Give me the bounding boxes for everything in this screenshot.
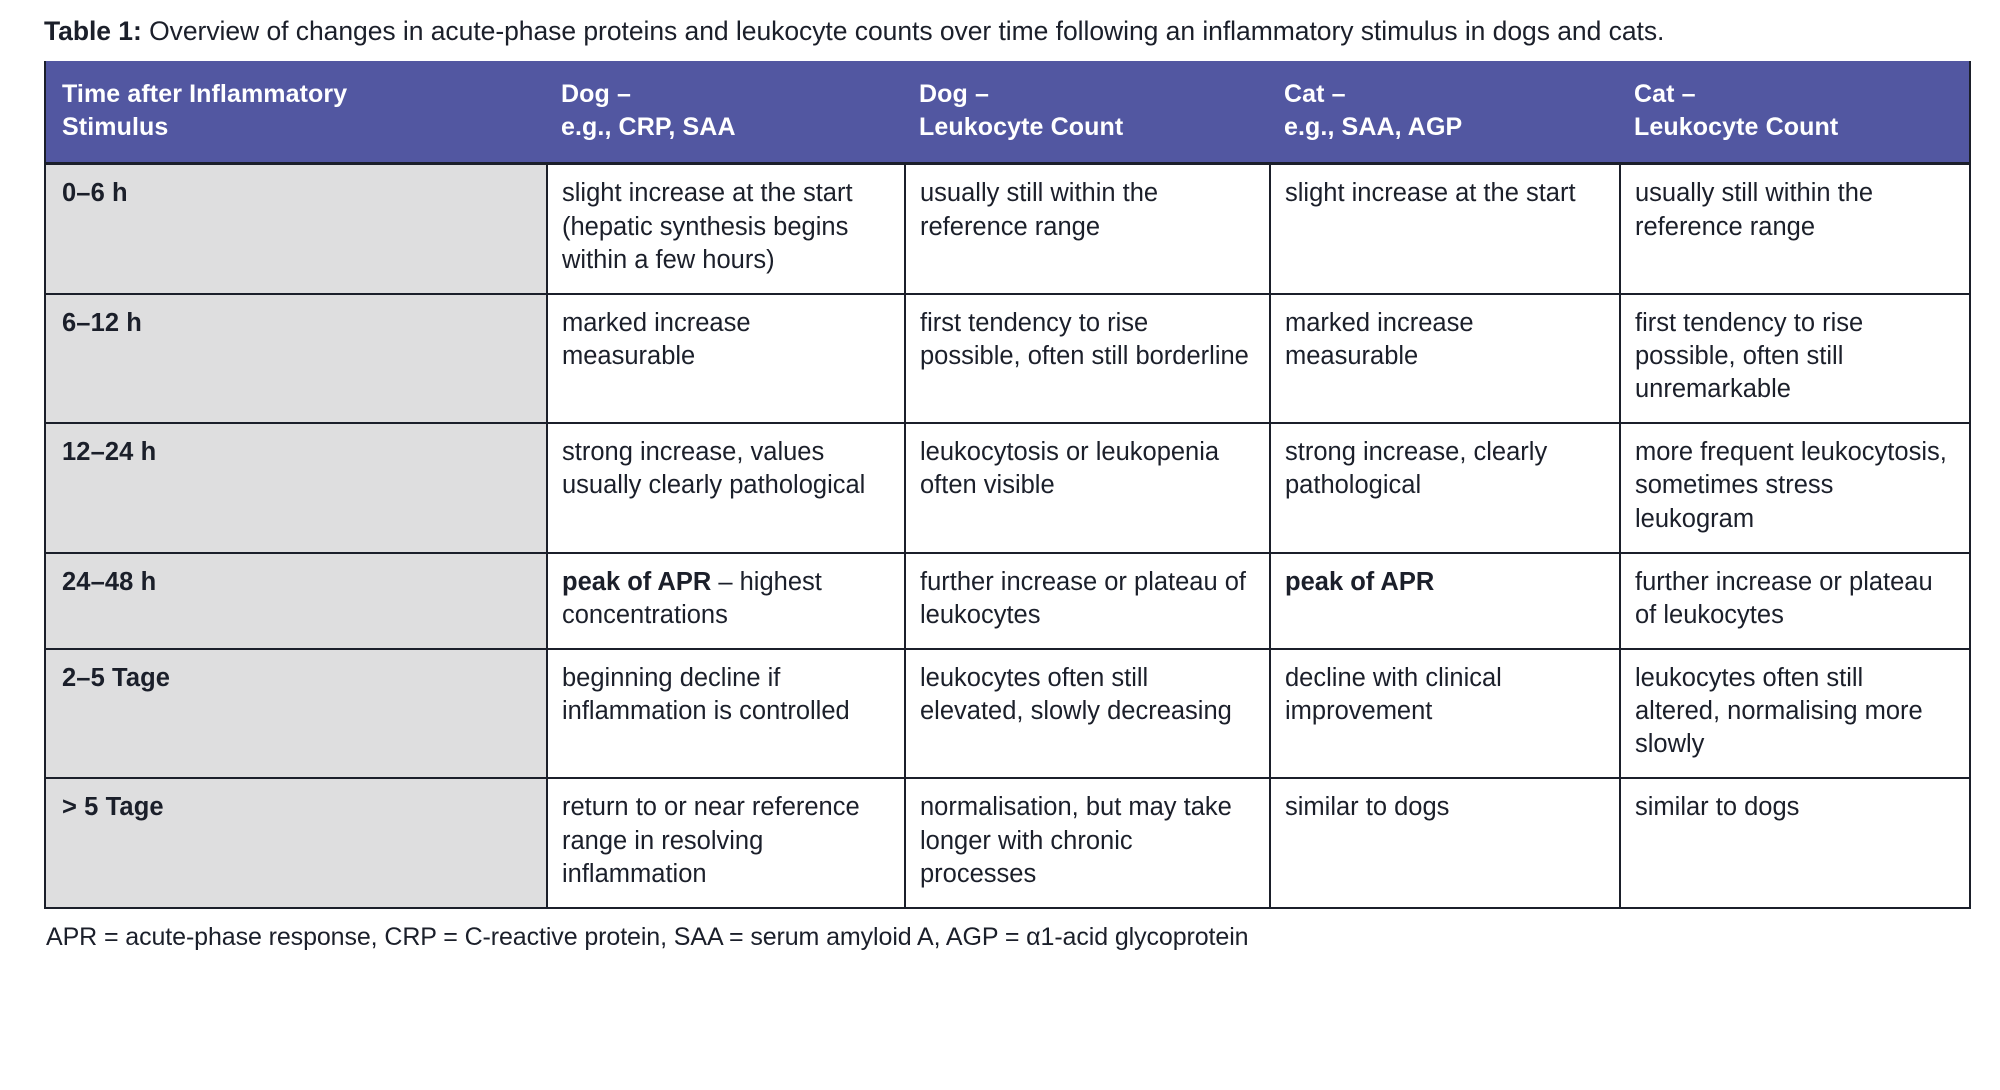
table-row: 6–12 h marked increase measurable first …	[45, 294, 1970, 423]
header-line-1: Cat –	[1284, 80, 1346, 108]
header-line-2: Stimulus	[62, 113, 168, 141]
table-figure-page: Table 1: Overview of changes in acute-ph…	[0, 0, 2000, 1090]
column-header-time: Time after Inflammatory Stimulus	[45, 61, 547, 164]
caption-text: Overview of changes in acute-phase prote…	[142, 16, 1665, 46]
header-line-1: Dog –	[561, 80, 631, 108]
acute-phase-protein-table: Time after Inflammatory Stimulus Dog – e…	[44, 61, 1971, 908]
cell-dog-leukocyte: further increase or plateau of leukocyte…	[905, 553, 1270, 649]
cell-cat-leukocyte: more frequent leukocytosis, sometimes st…	[1620, 423, 1970, 552]
header-line-2: e.g., CRP, SAA	[561, 113, 736, 141]
table-row: > 5 Tage return to or near reference ran…	[45, 778, 1970, 907]
header-row: Time after Inflammatory Stimulus Dog – e…	[45, 61, 1970, 164]
cell-time: > 5 Tage	[45, 778, 547, 907]
table-footnote: APR = acute-phase response, CRP = C-reac…	[44, 921, 1964, 954]
header-line-1: Dog –	[919, 80, 989, 108]
table-header: Time after Inflammatory Stimulus Dog – e…	[45, 61, 1970, 164]
column-header-dog-leukocyte: Dog – Leukocyte Count	[905, 61, 1270, 164]
cell-cat-leukocyte: usually still within the reference range	[1620, 164, 1970, 294]
table-row: 12–24 h strong increase, values usually …	[45, 423, 1970, 552]
cell-cat-apr: peak of APR	[1270, 553, 1620, 649]
table-caption: Table 1: Overview of changes in acute-ph…	[44, 14, 1964, 48]
cell-dog-apr: slight increase at the start (hepatic sy…	[547, 164, 905, 294]
cell-dog-leukocyte: usually still within the reference range	[905, 164, 1270, 294]
table-row: 24–48 h peak of APR – highest concentrat…	[45, 553, 1970, 649]
caption-label: Table 1:	[44, 16, 142, 46]
cell-cat-apr: similar to dogs	[1270, 778, 1620, 907]
header-line-1: Cat –	[1634, 80, 1696, 108]
table-body: 0–6 h slight increase at the start (hepa…	[45, 164, 1970, 908]
cell-cat-leukocyte: leukocytes often still altered, normalis…	[1620, 649, 1970, 778]
cell-cat-apr: marked increase measurable	[1270, 294, 1620, 423]
cell-cat-apr: strong increase, clearly pathological	[1270, 423, 1620, 552]
cell-dog-apr: return to or near reference range in res…	[547, 778, 905, 907]
cell-dog-apr: beginning decline if inflammation is con…	[547, 649, 905, 778]
cell-cat-leukocyte: similar to dogs	[1620, 778, 1970, 907]
cell-emphasis: peak of APR	[1285, 568, 1434, 596]
cell-cat-leukocyte: further increase or plateau of leukocyte…	[1620, 553, 1970, 649]
cell-time: 2–5 Tage	[45, 649, 547, 778]
header-line-2: Leukocyte Count	[919, 113, 1123, 141]
column-header-cat-apr: Cat – e.g., SAA, AGP	[1270, 61, 1620, 164]
column-header-dog-apr: Dog – e.g., CRP, SAA	[547, 61, 905, 164]
cell-dog-leukocyte: leukocytes often still elevated, slowly …	[905, 649, 1270, 778]
cell-time: 6–12 h	[45, 294, 547, 423]
cell-time: 24–48 h	[45, 553, 547, 649]
cell-dog-apr: peak of APR – highest concentrations	[547, 553, 905, 649]
header-line-2: e.g., SAA, AGP	[1284, 113, 1462, 141]
header-line-1: Time after Inflammatory	[62, 80, 347, 108]
cell-dog-apr: strong increase, values usually clearly …	[547, 423, 905, 552]
cell-cat-leukocyte: first tendency to rise possible, often s…	[1620, 294, 1970, 423]
cell-time: 0–6 h	[45, 164, 547, 294]
cell-dog-leukocyte: first tendency to rise possible, often s…	[905, 294, 1270, 423]
cell-time: 12–24 h	[45, 423, 547, 552]
cell-cat-apr: decline with clinical improvement	[1270, 649, 1620, 778]
cell-dog-apr: marked increase measurable	[547, 294, 905, 423]
cell-dog-leukocyte: leukocytosis or leukopenia often visible	[905, 423, 1270, 552]
cell-cat-apr: slight increase at the start	[1270, 164, 1620, 294]
header-line-2: Leukocyte Count	[1634, 113, 1838, 141]
column-header-cat-leukocyte: Cat – Leukocyte Count	[1620, 61, 1970, 164]
cell-emphasis: peak of APR	[562, 568, 711, 596]
table-row: 2–5 Tage beginning decline if inflammati…	[45, 649, 1970, 778]
cell-dog-leukocyte: normalisation, but may take longer with …	[905, 778, 1270, 907]
table-row: 0–6 h slight increase at the start (hepa…	[45, 164, 1970, 294]
